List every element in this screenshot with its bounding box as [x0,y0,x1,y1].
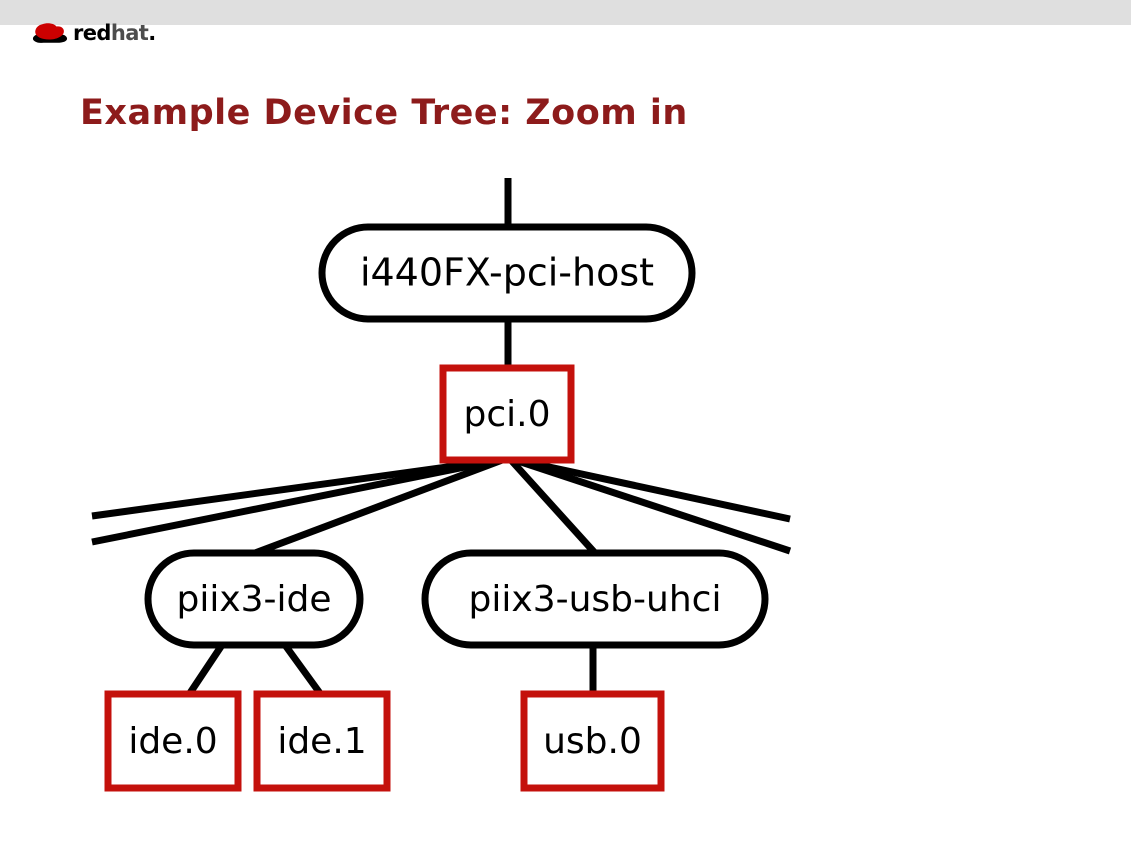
tree-node-pci-0[interactable]: pci.0 [443,368,571,460]
tree-node-label-pci-0: pci.0 [464,394,551,435]
device-tree-diagram: i440FX-pci-hostpci.0piix3-idepiix3-usb-u… [0,0,1131,848]
tree-node-label-ide-1: ide.1 [277,721,366,762]
tree-node-ide-1[interactable]: ide.1 [257,694,387,788]
tree-node-ide-0[interactable]: ide.0 [108,694,238,788]
tree-node-label-piix3-usb-uhci: piix3-usb-uhci [469,579,722,620]
tree-node-label-ide-0: ide.0 [128,721,217,762]
tree-edge-pci0-to-offscreen-l2 [92,459,505,542]
tree-node-label-usb-0: usb.0 [543,721,642,762]
tree-node-label-piix3-ide: piix3-ide [176,579,331,620]
tree-node-usb-0[interactable]: usb.0 [524,694,661,788]
tree-node-i440fx-pci-host[interactable]: i440FX-pci-host [322,227,692,319]
tree-edge-pci0-to-offscreen-l1 [92,459,505,516]
tree-edge-ide-to-ide0 [188,645,222,696]
tree-node-piix3-usb-uhci[interactable]: piix3-usb-uhci [425,553,765,645]
device-tree-canvas: i440FX-pci-hostpci.0piix3-idepiix3-usb-u… [0,0,1131,848]
tree-edge-ide-to-ide1 [285,645,322,696]
tree-node-label-i440fx-pci-host: i440FX-pci-host [360,251,654,295]
tree-node-piix3-ide[interactable]: piix3-ide [148,553,360,645]
